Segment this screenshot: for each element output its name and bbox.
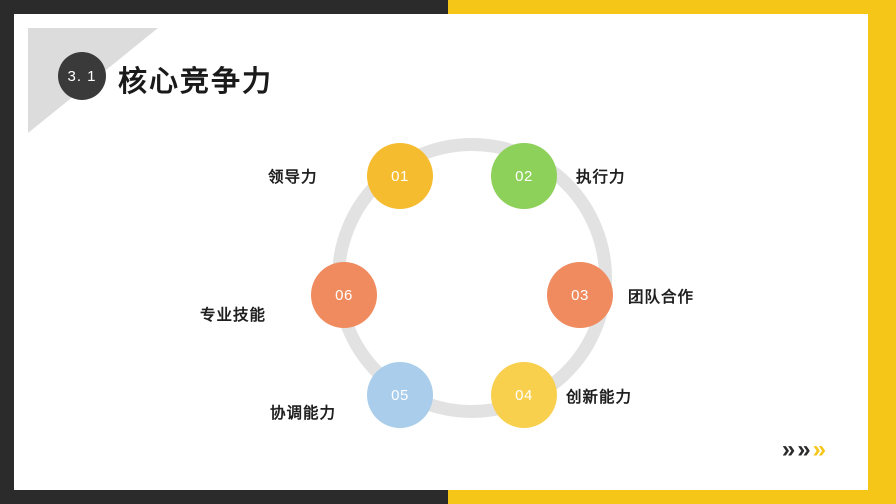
diagram-node-01[interactable]: 01 <box>367 143 433 209</box>
slide-root: 3. 1 核心竞争力 01 领导力 02 执行力 03 团队合作 04 <box>0 0 896 504</box>
circular-diagram: 01 领导力 02 执行力 03 团队合作 04 创新能力 05 协调能力 <box>332 138 612 418</box>
diagram-node-06-number: 06 <box>335 287 353 304</box>
section-number-badge: 3. 1 <box>58 52 106 100</box>
diagram-node-01-number: 01 <box>391 168 409 185</box>
diagram-node-02[interactable]: 02 <box>491 143 557 209</box>
section-number-text: 3. 1 <box>67 68 96 85</box>
diagram-node-05-number: 05 <box>391 387 409 404</box>
white-content-card: 3. 1 核心竞争力 01 领导力 02 执行力 03 团队合作 04 <box>14 14 868 490</box>
diagram-node-05-label: 协调能力 <box>270 401 336 423</box>
chevron-right-icon-2: » <box>797 438 810 462</box>
chevron-decoration: » » » <box>782 438 826 462</box>
diagram-node-04[interactable]: 04 <box>491 362 557 428</box>
diagram-node-04-number: 04 <box>515 387 533 404</box>
diagram-node-03-number: 03 <box>571 287 589 304</box>
diagram-node-02-label: 执行力 <box>576 165 626 187</box>
diagram-node-01-label: 领导力 <box>268 165 318 187</box>
diagram-node-04-label: 创新能力 <box>566 385 632 407</box>
diagram-node-02-number: 02 <box>515 168 533 185</box>
diagram-node-06[interactable]: 06 <box>311 262 377 328</box>
chevron-right-icon-3: » <box>813 438 826 462</box>
diagram-node-06-label: 专业技能 <box>200 303 266 325</box>
diagram-node-03[interactable]: 03 <box>547 262 613 328</box>
page-title: 核心竞争力 <box>118 58 273 100</box>
diagram-node-05[interactable]: 05 <box>367 362 433 428</box>
chevron-right-icon-1: » <box>782 438 795 462</box>
diagram-node-03-label: 团队合作 <box>628 285 694 307</box>
